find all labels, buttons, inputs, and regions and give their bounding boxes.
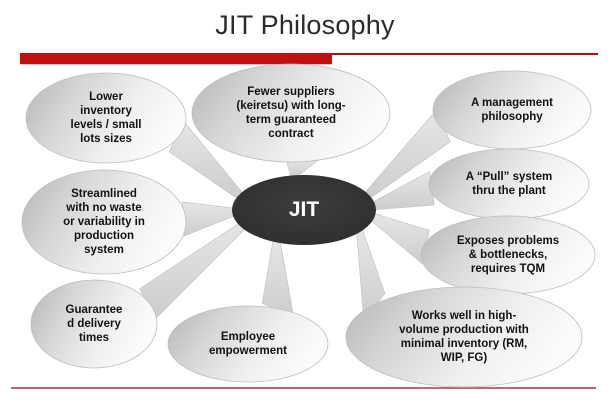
node-ellipse-fewer-suppliers[interactable] bbox=[192, 64, 390, 162]
slide-canvas: JIT Philosophy Lowerinventorylevels / sm… bbox=[0, 0, 610, 408]
node-ellipse-exposes-problems[interactable] bbox=[421, 216, 595, 294]
diagram-svg bbox=[0, 0, 610, 408]
node-layer bbox=[22, 64, 595, 387]
hub-ellipse-jit[interactable] bbox=[232, 175, 376, 245]
node-ellipse-guaranteed-delivery[interactable] bbox=[31, 280, 157, 368]
connector-employee-empowerment bbox=[262, 240, 293, 316]
node-ellipse-lower-inventory[interactable] bbox=[26, 73, 186, 163]
node-ellipse-employee-empowerment[interactable] bbox=[168, 306, 328, 382]
connector-streamlined-no-waste bbox=[182, 202, 233, 236]
node-ellipse-pull-system[interactable] bbox=[429, 149, 589, 219]
node-ellipse-streamlined-no-waste[interactable] bbox=[22, 170, 186, 274]
node-ellipse-works-well-high-volume[interactable] bbox=[346, 287, 582, 387]
node-ellipse-management-philosophy[interactable] bbox=[433, 71, 591, 149]
